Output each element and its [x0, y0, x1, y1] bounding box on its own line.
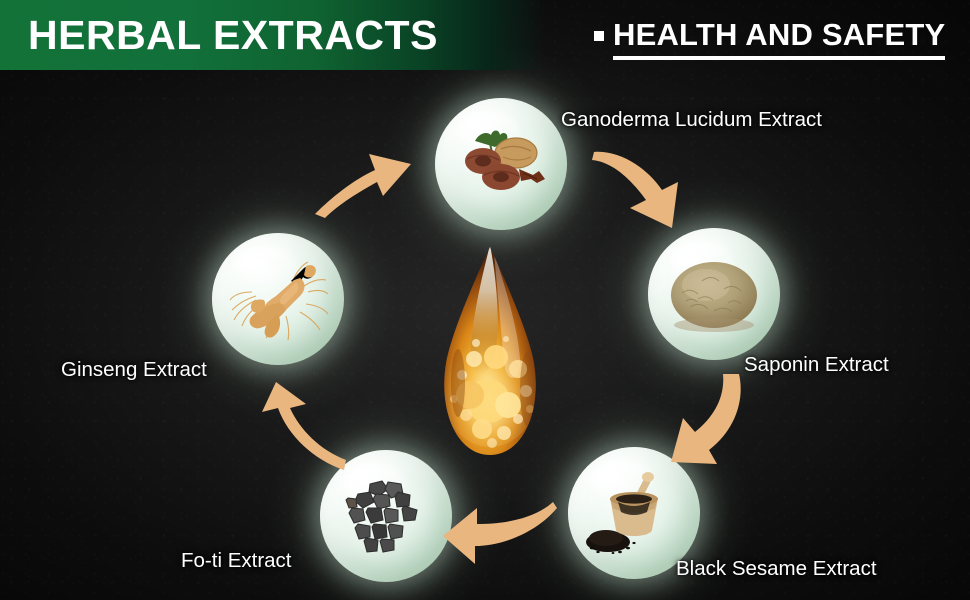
node-saponin[interactable] — [648, 228, 780, 360]
curved-arrow-up-right-icon — [313, 140, 417, 218]
header-banner: HERBAL EXTRACTS — [0, 0, 545, 70]
label-foti: Fo-ti Extract — [181, 549, 292, 573]
beige-powder-icon — [648, 228, 780, 360]
curved-arrow-down-right-icon — [592, 146, 696, 232]
ginseng-root-icon — [212, 233, 344, 365]
section-heading-label: HEALTH AND SAFETY — [613, 17, 945, 60]
node-ginseng[interactable] — [212, 233, 344, 365]
square-bullet-icon — [594, 31, 604, 41]
curved-arrow-down-left-icon — [653, 372, 773, 468]
page-title: HERBAL EXTRACTS — [28, 12, 438, 58]
label-ginseng: Ginseng Extract — [61, 358, 207, 382]
label-sesame: Black Sesame Extract — [676, 557, 877, 581]
golden-oil-droplet-icon — [432, 243, 548, 465]
label-saponin: Saponin Extract — [744, 353, 889, 377]
reishi-mushroom-icon — [435, 98, 567, 230]
node-ganoderma[interactable] — [435, 98, 567, 230]
curved-arrow-left-icon — [441, 502, 559, 576]
infographic-canvas: HERBAL EXTRACTS HEALTH AND SAFETY — [0, 0, 970, 600]
label-ganoderma: Ganoderma Lucidum Extract — [561, 108, 822, 132]
section-heading: HEALTH AND SAFETY — [594, 17, 945, 60]
curved-arrow-up-left-icon — [252, 382, 348, 472]
